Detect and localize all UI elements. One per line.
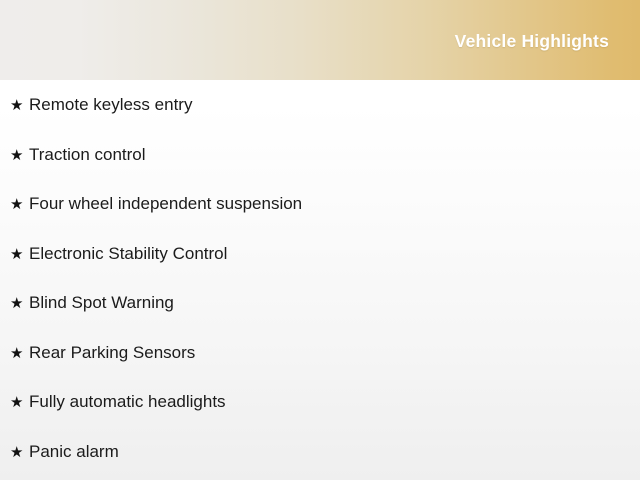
list-item: ★Remote keyless entry (0, 80, 640, 130)
list-item-label: Traction control (29, 145, 146, 164)
header-bar: Vehicle Highlights (0, 0, 640, 80)
list-item: ★Blind Spot Warning (0, 278, 640, 328)
vehicle-highlights-page: Vehicle Highlights ★Remote keyless entry… (0, 0, 640, 480)
list-item-label: Rear Parking Sensors (29, 343, 195, 362)
star-icon: ★ (10, 428, 29, 478)
list-item: ★Four wheel independent suspension (0, 179, 640, 229)
list-item: ★Electronic Stability Control (0, 229, 640, 279)
list-item: ★Rear Parking Sensors (0, 328, 640, 378)
star-icon: ★ (10, 279, 29, 329)
star-icon: ★ (10, 230, 29, 280)
star-icon: ★ (10, 378, 29, 428)
page-title: Vehicle Highlights (455, 31, 609, 52)
star-icon: ★ (10, 81, 29, 131)
list-item-label: Blind Spot Warning (29, 293, 174, 312)
list-item-label: Panic alarm (29, 442, 119, 461)
list-item-label: Fully automatic headlights (29, 392, 226, 411)
star-icon: ★ (10, 180, 29, 230)
list-item: ★Panic alarm (0, 427, 640, 477)
list-item: ★Traction control (0, 130, 640, 180)
star-icon: ★ (10, 329, 29, 379)
list-item-label: Four wheel independent suspension (29, 194, 302, 213)
list-item-label: Electronic Stability Control (29, 244, 227, 263)
list-item-label: Remote keyless entry (29, 95, 192, 114)
star-icon: ★ (10, 131, 29, 181)
list-item: ★Fully automatic headlights (0, 377, 640, 427)
vehicle-highlights-list: ★Remote keyless entry ★Traction control … (0, 80, 640, 476)
